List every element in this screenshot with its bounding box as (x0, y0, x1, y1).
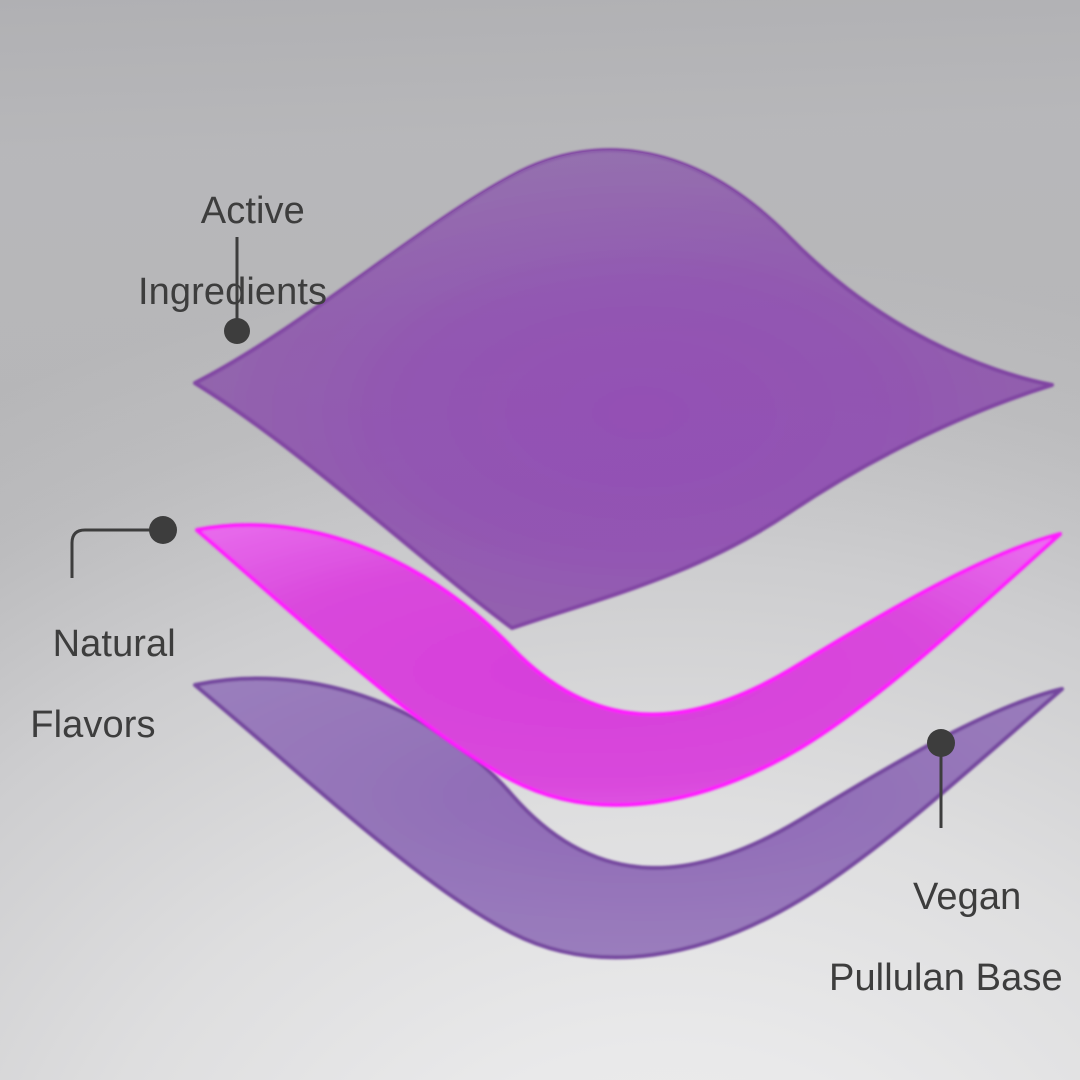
label-vegan-pullulan-base: Vegan Pullulan Base (829, 836, 1063, 1080)
label-active-ingredients: Active Ingredients (138, 150, 327, 394)
callout-natural-flavors[interactable] (72, 516, 177, 578)
label-natural-flavors: Natural Flavors (10, 583, 176, 827)
label-vegan-pullulan-base-line2: Pullulan Base (829, 958, 1063, 999)
label-vegan-pullulan-base-line1: Vegan (913, 876, 1021, 918)
label-active-ingredients-line1: Active (201, 190, 305, 232)
callout-natural-flavors-leader (72, 530, 150, 578)
label-natural-flavors-line2: Flavors (10, 705, 176, 746)
diagram-canvas: Active Ingredients Natural Flavors Vegan… (0, 0, 1080, 1080)
callout-vegan-pullulan-base-dot (927, 729, 955, 757)
label-active-ingredients-line2: Ingredients (138, 272, 327, 313)
label-natural-flavors-line1: Natural (53, 623, 176, 665)
callout-natural-flavors-dot (149, 516, 177, 544)
